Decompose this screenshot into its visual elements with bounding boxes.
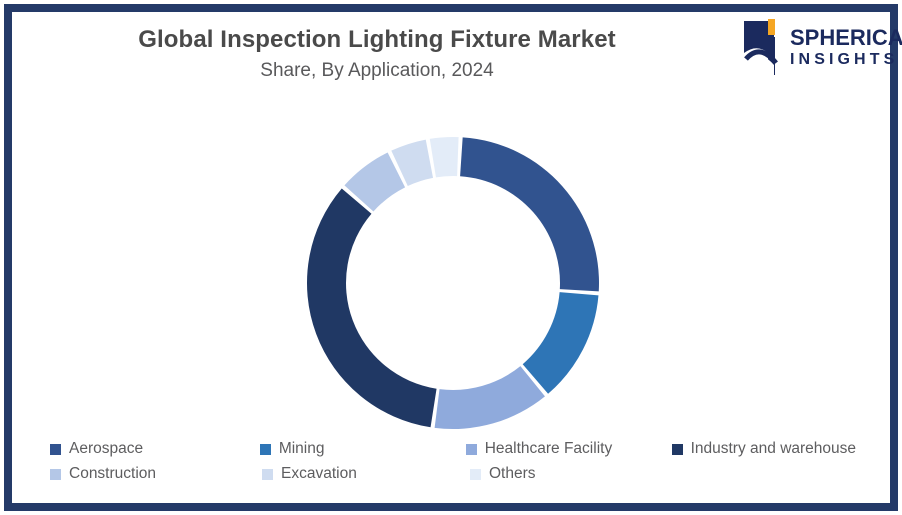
page-subtitle: Share, By Application, 2024 xyxy=(12,60,742,82)
legend-swatch-icon xyxy=(466,444,477,455)
donut-slice[interactable] xyxy=(430,137,459,177)
legend-label: Healthcare Facility xyxy=(485,440,613,458)
legend-swatch-icon xyxy=(50,469,61,480)
donut-slice[interactable] xyxy=(460,137,599,291)
donut-slice[interactable] xyxy=(307,188,437,427)
donut-slice[interactable] xyxy=(523,292,599,394)
chart-header: Global Inspection Lighting Fixture Marke… xyxy=(12,26,742,81)
legend-swatch-icon xyxy=(260,444,271,455)
legend-label: Excavation xyxy=(281,465,357,483)
logo-wordmark: SPHERICAL INSIGHTS xyxy=(790,27,902,68)
logo-line-1: SPHERICAL xyxy=(790,27,902,49)
chart-legend: AerospaceMiningHealthcare FacilityIndust… xyxy=(12,440,890,490)
legend-row: ConstructionExcavationOthers xyxy=(50,465,856,483)
legend-label: Aerospace xyxy=(69,440,143,458)
page-title: Global Inspection Lighting Fixture Marke… xyxy=(12,26,742,54)
logo-line-2: INSIGHTS xyxy=(790,52,902,68)
legend-swatch-icon xyxy=(262,469,273,480)
legend-swatch-icon xyxy=(470,469,481,480)
legend-item-aerospace[interactable]: Aerospace xyxy=(50,440,260,458)
logo-mark-icon xyxy=(744,19,788,75)
legend-row: AerospaceMiningHealthcare FacilityIndust… xyxy=(50,440,856,458)
legend-item-construction[interactable]: Construction xyxy=(50,465,262,483)
legend-label: Construction xyxy=(69,465,156,483)
spherical-insights-logo: SPHERICAL INSIGHTS xyxy=(744,16,887,78)
legend-item-healthcare-facility[interactable]: Healthcare Facility xyxy=(466,440,672,458)
legend-swatch-icon xyxy=(672,444,683,455)
legend-label: Industry and warehouse xyxy=(691,440,856,458)
legend-swatch-icon xyxy=(50,444,61,455)
chart-canvas: Global Inspection Lighting Fixture Marke… xyxy=(12,12,890,503)
legend-item-excavation[interactable]: Excavation xyxy=(262,465,470,483)
donut-slice[interactable] xyxy=(435,366,545,429)
chart-frame: Global Inspection Lighting Fixture Marke… xyxy=(4,4,898,511)
legend-item-others[interactable]: Others xyxy=(470,465,678,483)
donut-chart xyxy=(298,135,608,431)
legend-label: Others xyxy=(489,465,536,483)
donut-slices xyxy=(307,137,599,429)
legend-label: Mining xyxy=(279,440,325,458)
legend-item-industry-and-warehouse[interactable]: Industry and warehouse xyxy=(672,440,856,458)
legend-item-mining[interactable]: Mining xyxy=(260,440,466,458)
